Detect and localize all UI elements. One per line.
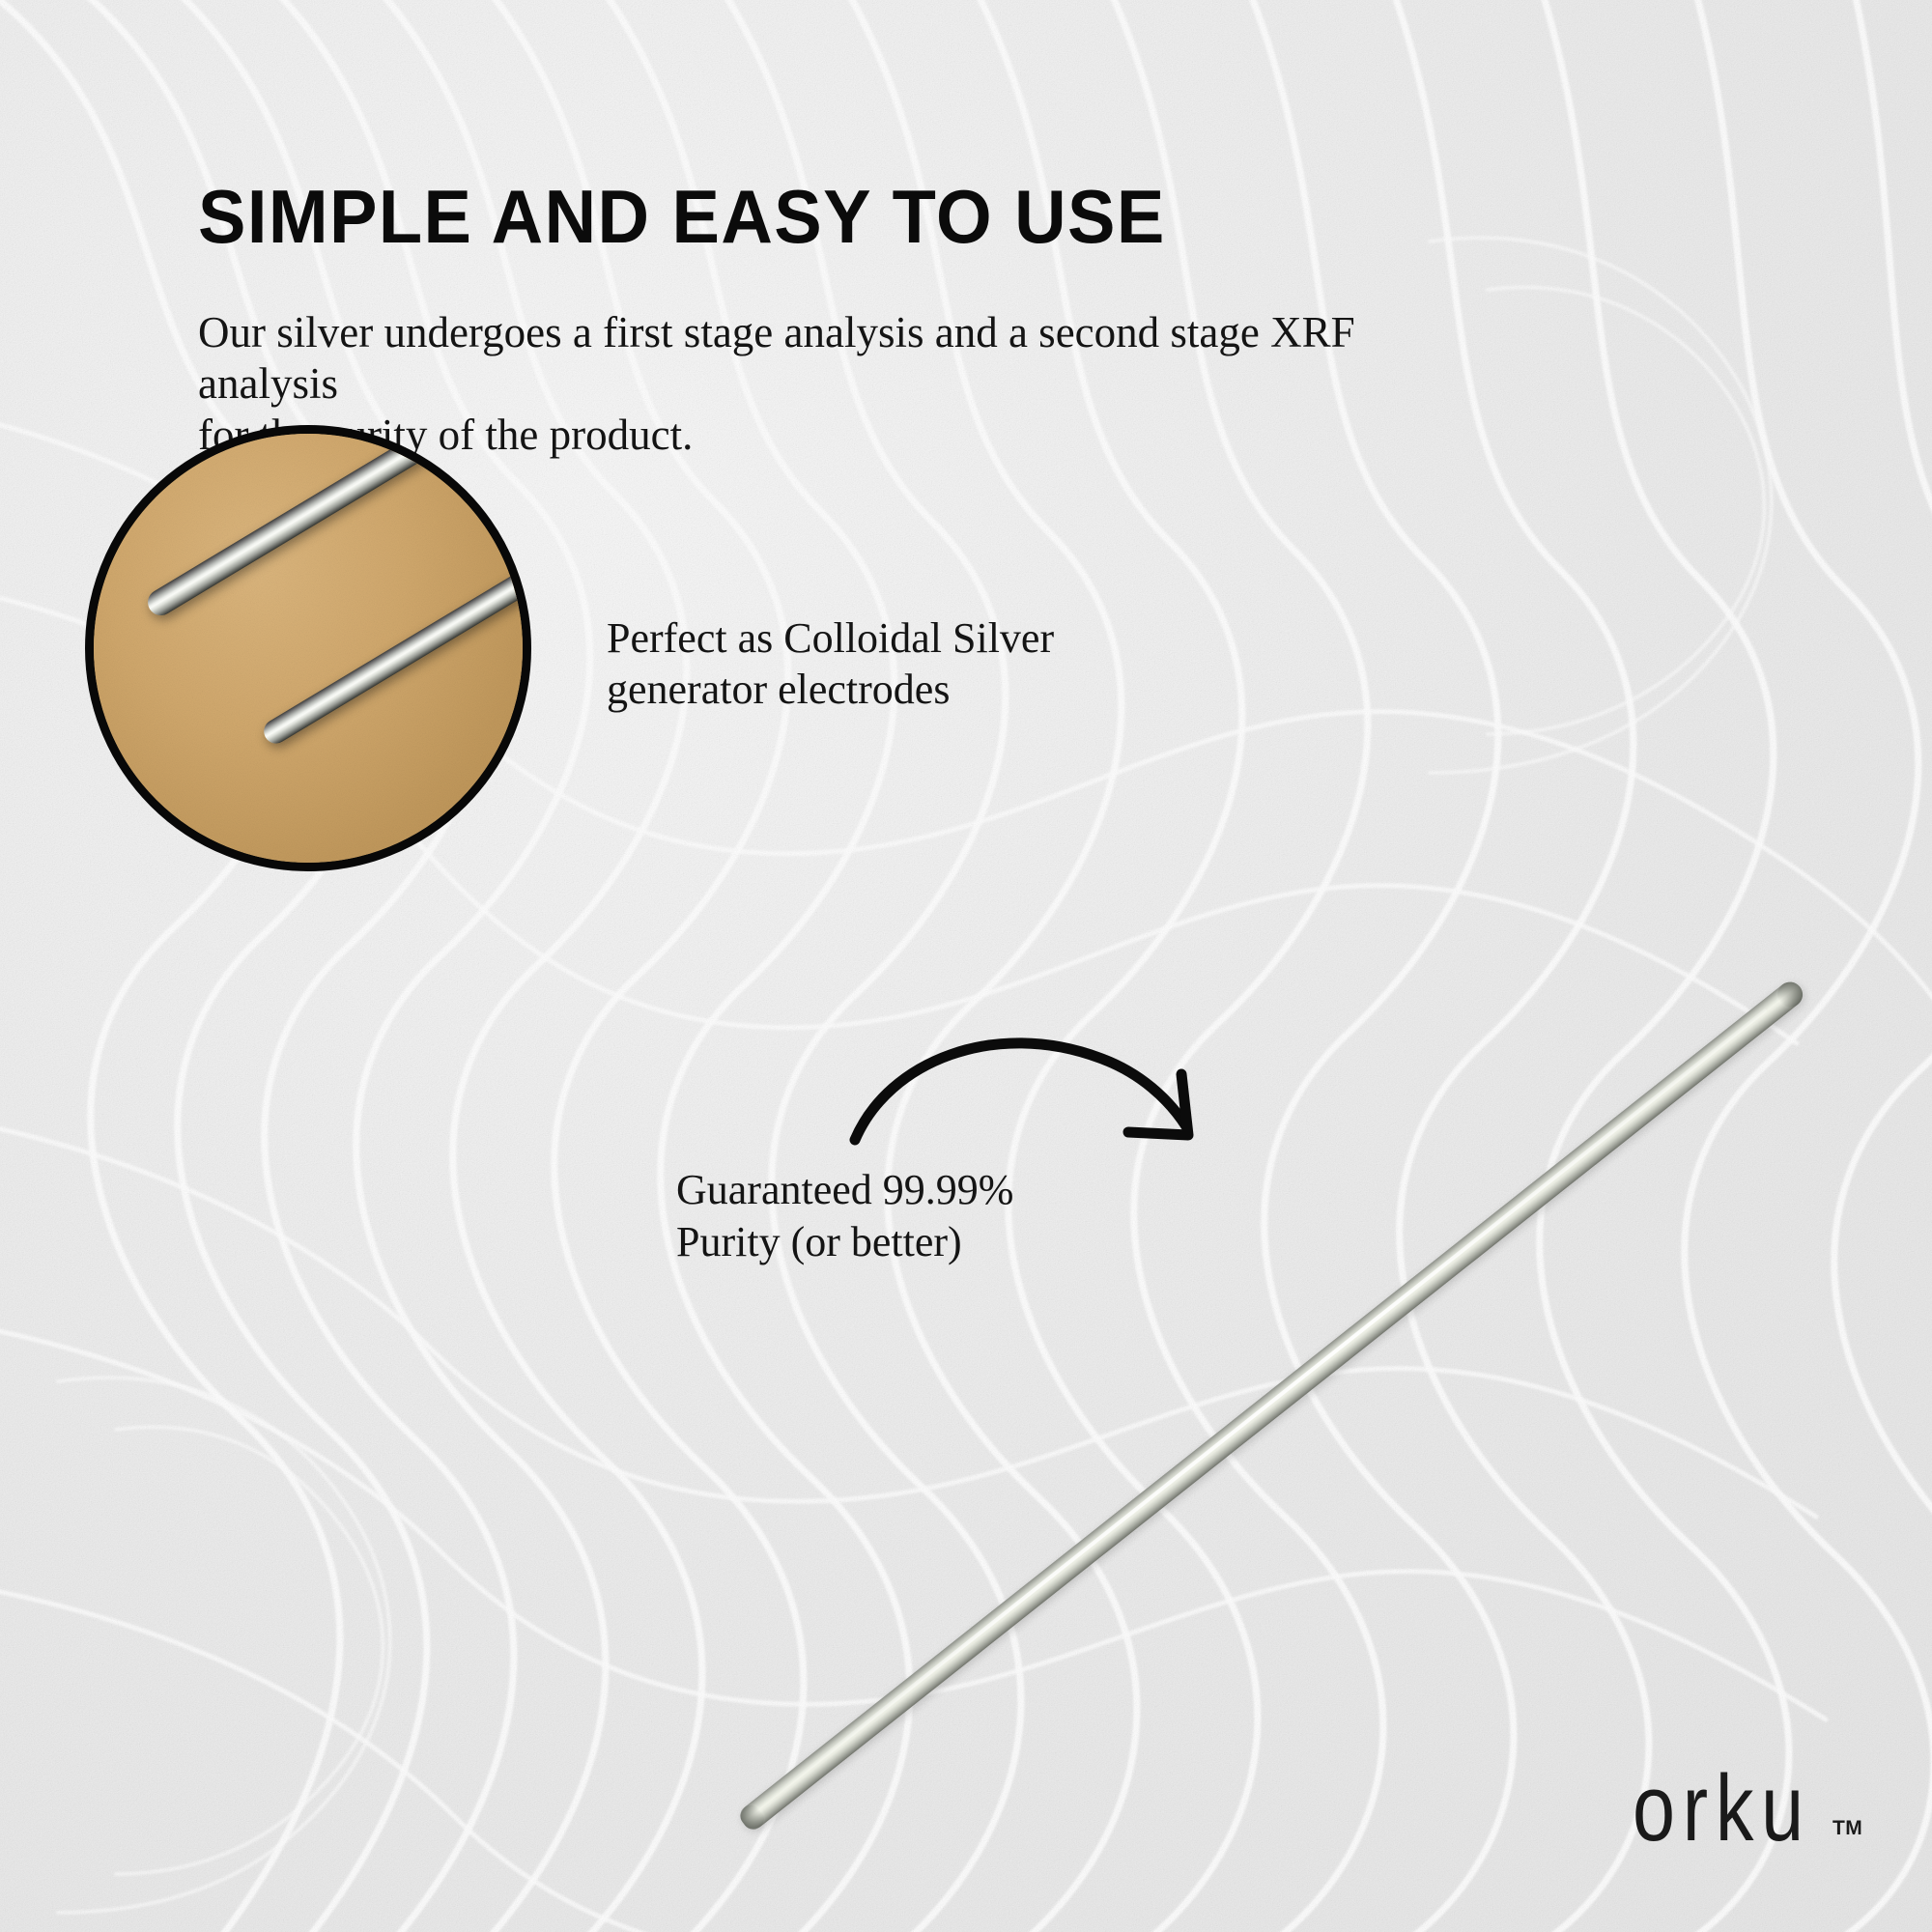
callout-electrodes-line-1: Perfect as Colloidal Silver [607, 613, 1054, 665]
callout-purity: Guaranteed 99.99% Purity (or better) [676, 1164, 1013, 1267]
curved-arrow-icon [850, 985, 1256, 1179]
callout-electrodes: Perfect as Colloidal Silver generator el… [607, 613, 1054, 716]
callout-purity-line-2: Purity (or better) [676, 1216, 1013, 1268]
callout-purity-line-1: Guaranteed 99.99% [676, 1164, 1013, 1216]
subtitle-line-1: Our silver undergoes a first stage analy… [198, 308, 1355, 408]
electrode-photo-inset [85, 425, 531, 871]
brand-logo-wordmark: orku [1633, 1765, 1811, 1855]
brand-logo: orku TM [1633, 1770, 1862, 1854]
infographic-canvas: SIMPLE AND EASY TO USE Our silver underg… [0, 0, 1932, 1932]
trademark-icon: TM [1833, 1817, 1862, 1840]
page-title: SIMPLE AND EASY TO USE [198, 179, 1166, 254]
callout-electrodes-line-2: generator electrodes [607, 665, 1054, 716]
